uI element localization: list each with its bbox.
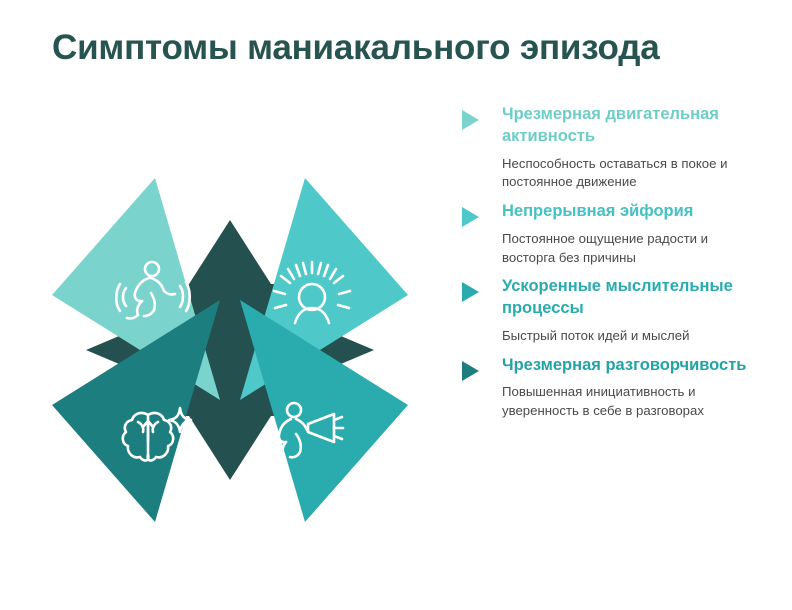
page-title: Симптомы маниакального эпизода xyxy=(52,28,660,68)
triangle-bullet-icon xyxy=(462,282,479,302)
list-item: Чрезмерная двигательная активность Неспо… xyxy=(462,104,752,192)
list-item: Непрерывная эйфория Постоянное ощущение … xyxy=(462,201,752,267)
infographic-page: Симптомы маниакального эпизода xyxy=(0,0,792,610)
symptom-description: Постоянное ощущение радости и восторга б… xyxy=(502,230,752,267)
symptom-heading: Чрезмерная двигательная активность xyxy=(502,104,752,148)
list-item: Чрезмерная разговорчивость Повышенная ин… xyxy=(462,355,752,421)
triangle-bullet-icon xyxy=(462,110,479,130)
list-item: Ускоренные мыслительные процессы Быстрый… xyxy=(462,276,752,345)
symptom-heading: Непрерывная эйфория xyxy=(502,201,752,223)
symptom-description: Быстрый поток идей и мыслей xyxy=(502,327,752,346)
symptom-pinwheel-graphic xyxy=(40,160,420,540)
symptom-description: Повышенная инициативность и уверенность … xyxy=(502,383,752,420)
symptom-list: Чрезмерная двигательная активность Неспо… xyxy=(462,104,752,430)
triangle-bullet-icon xyxy=(462,207,479,227)
symptom-heading: Чрезмерная разговорчивость xyxy=(502,355,752,377)
symptom-description: Неспособность оставаться в покое и посто… xyxy=(502,155,752,192)
triangle-bullet-icon xyxy=(462,361,479,381)
symptom-heading: Ускоренные мыслительные процессы xyxy=(502,276,752,320)
